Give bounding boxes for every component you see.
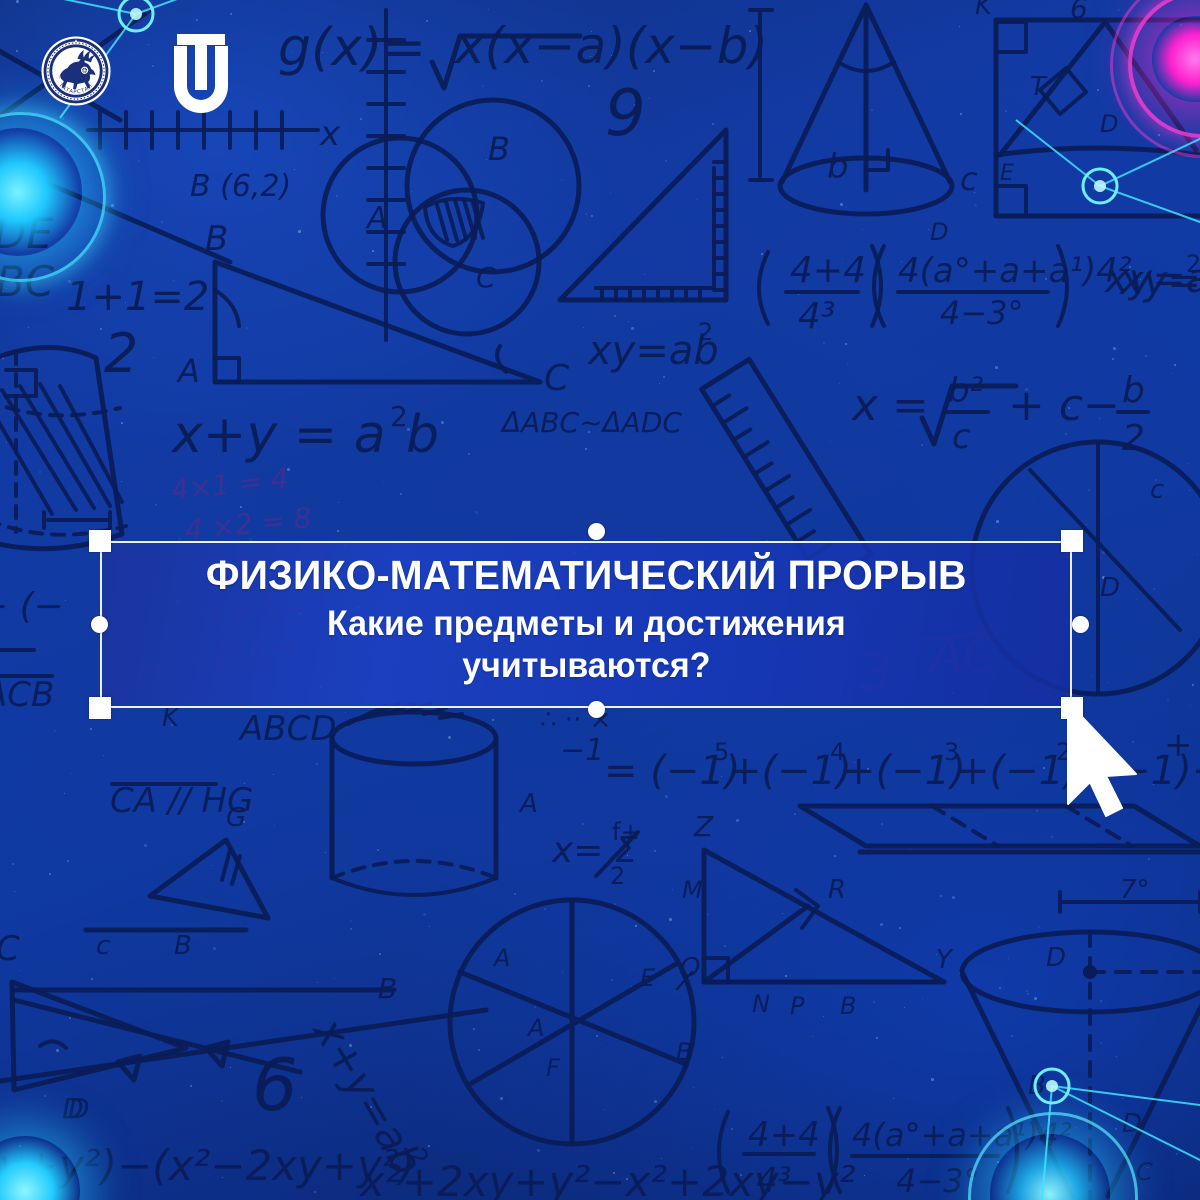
- svg-text:C: C: [476, 261, 496, 294]
- svg-text:K: K: [975, 0, 994, 21]
- subline-text: Какие предметы и достижения учитываются?: [327, 603, 846, 688]
- resize-handle-middle-left[interactable]: [91, 616, 108, 633]
- svg-text:4−3°: 4−3°: [896, 1162, 980, 1200]
- svg-text:E: E: [1000, 161, 1014, 186]
- svg-text:b: b: [827, 147, 849, 187]
- svg-text:R: R: [828, 875, 846, 905]
- svg-text:D: D: [1100, 110, 1118, 138]
- subline-2: учитываются?: [327, 645, 846, 688]
- svg-text:B: B: [676, 1038, 692, 1066]
- svg-text:B: B: [840, 992, 856, 1020]
- svg-text:): ): [0, 267, 2, 302]
- svg-text:c: c: [96, 931, 110, 961]
- svg-text:ΔABC~ΔADC: ΔABC~ΔADC: [500, 406, 682, 439]
- svg-text:4−3°: 4−3°: [940, 294, 1024, 332]
- svg-text:N: N: [752, 990, 770, 1018]
- svg-text:A: A: [526, 1014, 544, 1042]
- subline-1: Какие предметы и достижения: [327, 603, 846, 646]
- resize-handle-top-right[interactable]: [1061, 530, 1083, 552]
- svg-text:− (−: − (−: [0, 586, 64, 627]
- svg-text:9: 9: [605, 77, 646, 151]
- svg-text:4(a°+a+a¹)4²: 4(a°+a+a¹)4²: [852, 1116, 1072, 1154]
- resize-handle-bottom-center[interactable]: [588, 701, 605, 718]
- svg-text:x =: x =: [850, 380, 929, 431]
- svg-text:xy=: xy=: [1118, 258, 1200, 304]
- svg-text:E: E: [640, 964, 656, 992]
- svg-text:b: b: [406, 405, 439, 465]
- svg-text:A: A: [365, 201, 388, 236]
- svg-text:4(a°+a+a¹)4²: 4(a°+a+a¹)4²: [898, 251, 1132, 291]
- svg-text:x(x−a)(x−b): x(x−a)(x−b): [453, 17, 768, 75]
- resize-handle-middle-right[interactable]: [1072, 616, 1089, 633]
- svg-text:C: C: [0, 929, 20, 969]
- svg-text:6: 6: [1070, 0, 1088, 25]
- svg-text:4×1 = 4: 4×1 = 4: [169, 462, 290, 507]
- svg-text:A: A: [860, 0, 880, 5]
- svg-text:xy+y²)−(x²−2xy+y²): xy+y²)−(x²−2xy+y²): [0, 1141, 415, 1190]
- svg-text:6: 6: [252, 1043, 298, 1127]
- svg-text:G: G: [226, 803, 246, 833]
- svg-text:ABCD: ABCD: [238, 709, 337, 749]
- svg-text:b²: b²: [948, 371, 984, 411]
- arrow-pointer-cursor: [1062, 700, 1144, 823]
- svg-text:DE: DE: [0, 209, 53, 258]
- svg-text:ACB: ACB: [0, 675, 54, 715]
- svg-text:D: D: [68, 1092, 90, 1125]
- svg-text:B: B: [488, 130, 510, 168]
- svg-text:4+4: 4+4: [748, 1115, 820, 1155]
- svg-text:x+y = a: x+y = a: [170, 405, 386, 465]
- svg-text:x: x: [319, 114, 341, 154]
- svg-text:F: F: [546, 1054, 561, 1082]
- svg-text:g(x)=: g(x)=: [278, 18, 426, 78]
- svg-text:P: P: [790, 992, 805, 1020]
- svg-text:+ c−: + c−: [1008, 380, 1120, 431]
- svg-text:+ (−1): + (−1): [1164, 725, 1200, 765]
- svg-text:c: c: [1150, 475, 1164, 505]
- svg-text:b: b: [1122, 370, 1145, 411]
- resize-handle-bottom-left[interactable]: [89, 697, 111, 719]
- svg-text:4³: 4³: [798, 296, 835, 337]
- svg-text:4+4: 4+4: [790, 250, 866, 291]
- svg-text:D: D: [1122, 1109, 1142, 1139]
- svg-text:−1: −1: [560, 733, 604, 768]
- svg-text:Z: Z: [693, 810, 714, 843]
- svg-text:4³: 4³: [756, 1161, 791, 1200]
- svg-text:5: 5: [714, 738, 729, 766]
- headline-text: ФИЗИКО-МАТЕМАТИЧЕСКИЙ ПРОРЫВ: [206, 555, 967, 597]
- svg-text:M: M: [682, 876, 703, 904]
- selected-text-box[interactable]: ФИЗИКО-МАТЕМАТИЧЕСКИЙ ПРОРЫВ Какие предм…: [100, 541, 1072, 708]
- svg-text:D: D: [930, 218, 948, 246]
- svg-text:c: c: [952, 417, 971, 457]
- svg-text:B: B: [1028, 1071, 1046, 1101]
- svg-text:c: c: [960, 160, 978, 198]
- svg-text:2: 2: [698, 318, 713, 346]
- tatarstan-emblem-logo: ТАТАРСТАН: [40, 35, 112, 107]
- svg-text:O: O: [680, 953, 700, 983]
- svg-text:D: D: [1046, 943, 1066, 973]
- svg-text:Y: Y: [936, 945, 954, 975]
- logo-row: ТАТАРСТАН: [40, 28, 238, 114]
- svg-text:BC: BC: [0, 257, 55, 306]
- poster-canvas: .dk{fill:none;stroke:#0a1c57;stroke-widt…: [0, 0, 1200, 1200]
- svg-text:A: A: [492, 944, 510, 972]
- svg-text:2: 2: [610, 862, 625, 890]
- svg-text:B: B: [174, 931, 192, 961]
- svg-text:A: A: [176, 352, 200, 390]
- svg-text:C: C: [1136, 1158, 1153, 1186]
- resize-handle-top-center[interactable]: [588, 523, 605, 540]
- resize-handle-top-left[interactable]: [89, 530, 111, 552]
- svg-text:2: 2: [104, 322, 138, 385]
- svg-text:7°: 7°: [1120, 875, 1150, 905]
- svg-text:D: D: [1100, 573, 1120, 603]
- tu-monogram-logo: [164, 28, 238, 114]
- svg-text:A: A: [518, 789, 538, 819]
- svg-text:1+1=2: 1+1=2: [66, 274, 209, 320]
- svg-text:2: 2: [1122, 418, 1145, 459]
- svg-text:C: C: [544, 358, 570, 399]
- svg-text:B (6,2): B (6,2): [190, 169, 291, 204]
